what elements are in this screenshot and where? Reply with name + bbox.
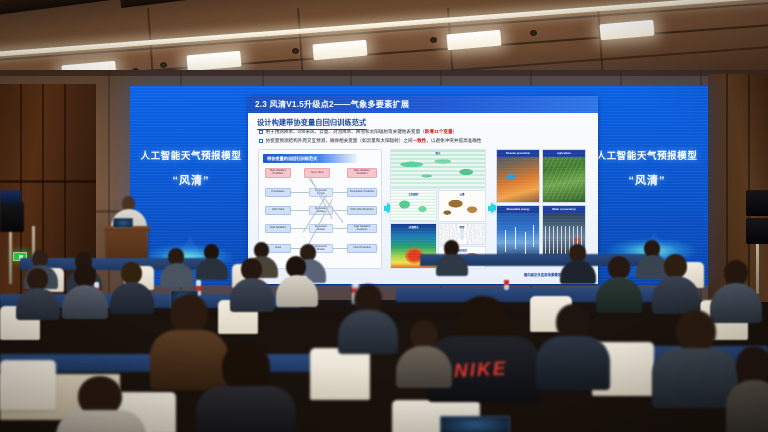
audience-member — [16, 268, 60, 316]
audience-body — [196, 386, 296, 432]
laptop-screen — [115, 220, 132, 227]
bullet-2-text-after: ，以避免冲突并提高准确性 — [426, 138, 481, 143]
bullet-marker-icon — [259, 130, 263, 134]
audience-body — [560, 260, 596, 284]
diagram-node: Temp. Wind — [304, 168, 330, 178]
pa-speaker-right-lower — [746, 218, 768, 244]
screen-right-title-line2: “风清” — [588, 172, 706, 188]
slide-section-heading: 设计构建带协变量自回归训练范式 — [257, 118, 366, 128]
audience-head — [121, 262, 142, 284]
diagram-connector — [291, 210, 309, 211]
audience-head — [736, 346, 768, 384]
photo-caption: Agriculture — [543, 150, 585, 157]
slide-bullet-1: 用于预测降水、100米风、云量、对流降水、降雪和太阳辐射等关键地表变量（新增11… — [259, 129, 457, 135]
screen-left-title-line1: 人工智能天气预报模型 — [132, 148, 250, 162]
audience-head — [170, 294, 208, 334]
chair — [0, 360, 56, 410]
map-label: 降水 — [391, 151, 485, 155]
diagram-connector — [333, 248, 347, 249]
audience-member — [338, 284, 398, 350]
nike-jacket-text: NIKE — [453, 359, 507, 384]
diagram-node: Regression Module — [309, 224, 333, 233]
bullet-2-text-before: 协变量预测结构外周交互预测，确保相关变量（如云量和太阳辐射）之间 — [266, 138, 413, 143]
audience-body — [652, 276, 700, 314]
audience-body — [196, 258, 228, 280]
pa-speaker-left-top — [0, 190, 21, 204]
diagram-connector — [333, 192, 347, 193]
pa-speaker-left — [0, 202, 24, 232]
chair — [310, 348, 370, 400]
audience-body — [16, 288, 60, 320]
audience-member — [110, 262, 154, 310]
map-cell: 降水 — [390, 149, 486, 189]
diagram-title: 带协变量的自回归训练范式 — [263, 154, 357, 163]
audience-member — [436, 240, 468, 272]
audience-body — [110, 282, 154, 314]
audience-body — [436, 254, 468, 276]
ceiling-beam — [120, 0, 270, 8]
diagram-node: Precipitation — [265, 188, 291, 197]
diagram-connector — [291, 192, 309, 193]
bullet-marker-icon — [259, 139, 263, 143]
slide-title: 2.3 风清V1.5升级点2——气象多要素扩展 — [248, 96, 598, 113]
ceiling-beam — [0, 0, 140, 16]
audience-head — [222, 342, 270, 392]
ceiling-spotlight — [530, 30, 537, 36]
water-bottle — [504, 274, 509, 290]
ceiling-panel-light — [312, 40, 367, 61]
audience-member — [596, 256, 642, 308]
map-label: 对流降水 — [391, 225, 436, 229]
podium-laptop — [113, 218, 133, 228]
ceiling-spotlight — [430, 37, 437, 43]
audience-head — [241, 258, 262, 280]
bullet-1-text-before: 用于预测降水、100米风、云量、对流降水、降雪和太阳辐射等关键地表变量（ — [266, 129, 425, 134]
diagram-node: 100m Wind Prediction — [347, 206, 377, 215]
audience-area: NIKE — [0, 250, 768, 432]
audience-head — [286, 256, 306, 277]
audience-body — [396, 346, 452, 388]
diagram-connector — [291, 228, 309, 229]
photo-caption: Renewable energy — [497, 206, 539, 213]
map-cell: 云量 — [438, 190, 486, 222]
audience-member — [62, 264, 108, 314]
audience-member — [56, 376, 146, 432]
diagram-node: Main Variables Prediction — [265, 168, 291, 178]
diagram-node: Precipitation Prediction — [347, 188, 377, 197]
audience-head — [27, 268, 48, 290]
photo-detail — [573, 236, 581, 244]
audience-body — [160, 263, 194, 287]
ceiling-spotlight — [160, 62, 167, 68]
diagram-node: 100m Wind — [265, 206, 291, 215]
audience-body — [56, 410, 146, 432]
photo-caption: Disaster prevention — [497, 150, 539, 157]
audience-body — [230, 278, 274, 312]
slide-bullet-2: 协变量预测结构外周交互预测，确保相关变量（如云量和太阳辐射）之间一致性，以避免冲… — [259, 138, 481, 144]
bullet-1-highlight: 新增11个变量 — [425, 129, 453, 134]
audience-head — [556, 304, 590, 340]
audience-head — [608, 256, 630, 279]
audience-member — [560, 244, 596, 280]
photo-caption: Water conservancy — [543, 206, 585, 213]
ceiling-spotlight — [292, 48, 299, 54]
pa-speaker-right-upper — [746, 190, 768, 216]
audience-member — [230, 258, 274, 308]
ceiling-panel-light — [446, 30, 501, 51]
audience-member — [196, 244, 228, 276]
audience-member — [276, 256, 318, 304]
application-photo: Agriculture — [542, 149, 586, 203]
laptop-screen — [442, 418, 509, 432]
screen-left-title-line2: “风清” — [132, 172, 250, 188]
bullet-2-highlight: 一致性 — [413, 138, 427, 143]
audience-member — [396, 320, 452, 384]
map-label: 云量 — [439, 192, 485, 196]
ceiling-panel-light — [599, 20, 654, 41]
map-label: 太阳辐射 — [391, 192, 436, 196]
audience-head — [676, 310, 716, 352]
screen-left-title: 人工智能天气预报模型 “风清” — [132, 148, 250, 188]
diagram-connector — [333, 228, 347, 229]
audience-body — [276, 275, 318, 307]
audience-head — [724, 260, 748, 285]
panel-seam — [0, 180, 96, 183]
map-cell: 太阳辐射 — [390, 190, 437, 222]
diagram-node: Solar Radiation — [265, 224, 291, 233]
audience-laptop — [440, 416, 510, 432]
audience-body — [536, 336, 610, 390]
audience-member — [196, 342, 296, 432]
screen-right-title: 人工智能天气预报模型 “风清” — [588, 148, 706, 188]
conference-room-scene: 人工智能天气预报模型 “风清” 人工智能天气预报模型 “风清” 2.3 风清V1… — [0, 0, 768, 432]
diagram-node: Solar Radiation Prediction — [347, 224, 377, 233]
audience-body — [726, 380, 768, 432]
audience-member — [652, 254, 700, 308]
audience-body — [62, 285, 108, 319]
ceiling-panel-light — [186, 51, 241, 72]
diagram-node: Main Variables Prediction — [347, 168, 377, 178]
audience-head — [74, 264, 96, 287]
audience-member — [536, 304, 610, 386]
audience-member — [160, 248, 194, 282]
audience-member — [726, 346, 768, 432]
map-label: 降雪 — [439, 225, 485, 229]
bullet-1-text-after: ） — [453, 129, 458, 134]
screen-right-title-line1: 人工智能天气预报模型 — [588, 148, 706, 162]
application-photo: Disaster prevention — [496, 149, 540, 203]
audience-body — [338, 310, 398, 354]
audience-head — [664, 254, 687, 278]
wall-trim — [0, 70, 768, 76]
